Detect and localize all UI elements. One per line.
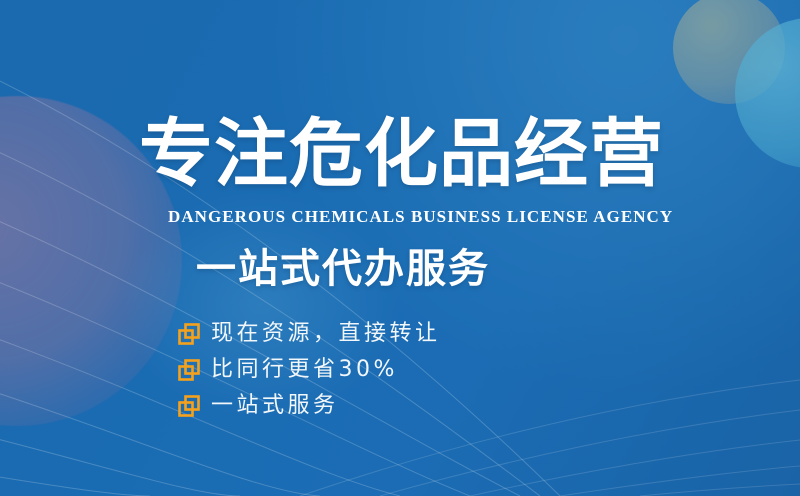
list-item: 比同行更省30% [178, 352, 441, 388]
overlapping-squares-icon [178, 359, 200, 381]
headline-secondary: 一站式代办服务 [196, 244, 490, 294]
subtitle-english: DANGEROUS CHEMICALS BUSINESS LICENSE AGE… [168, 206, 673, 228]
overlapping-squares-icon [178, 323, 200, 345]
banner-content: 专注危化品经营 DANGEROUS CHEMICALS BUSINESS LIC… [0, 0, 800, 496]
list-item-label: 比同行更省30% [211, 357, 398, 383]
list-item: 一站式服务 [178, 388, 441, 424]
list-item: 现在资源，直接转让 [178, 316, 441, 352]
overlapping-squares-icon [178, 395, 200, 417]
headline-primary: 专注危化品经营 [139, 112, 664, 196]
list-item-label: 现在资源，直接转让 [211, 321, 441, 347]
promotional-banner: 专注危化品经营 DANGEROUS CHEMICALS BUSINESS LIC… [0, 0, 800, 496]
feature-list: 现在资源，直接转让 比同行更省30% 一站式 [178, 316, 441, 424]
list-item-label: 一站式服务 [211, 393, 339, 419]
